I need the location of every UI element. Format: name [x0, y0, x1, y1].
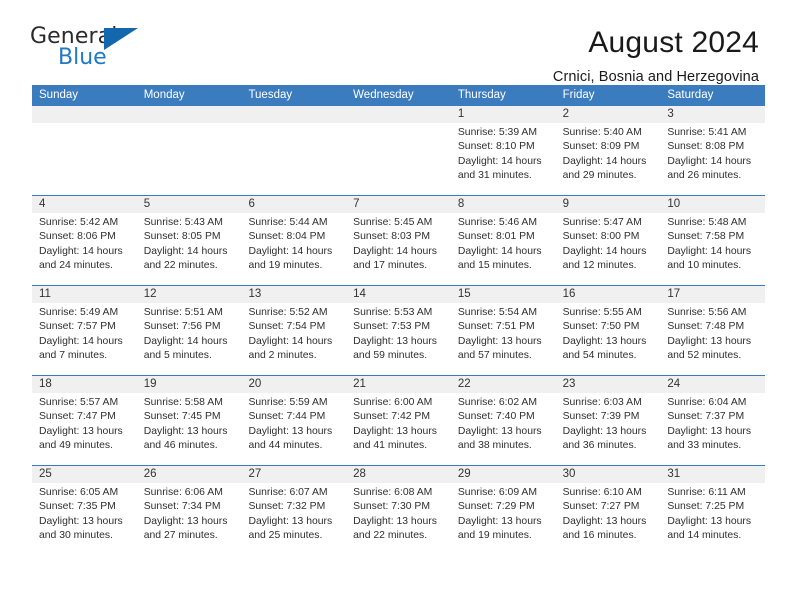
calendar-day-cell[interactable]: 18Sunrise: 5:57 AMSunset: 7:47 PMDayligh… — [32, 376, 137, 465]
daylight-line-2: and 22 minutes. — [144, 259, 236, 273]
daylight-line-1: Daylight: 14 hours — [458, 245, 550, 259]
daylight-line-2: and 24 minutes. — [39, 259, 131, 273]
calendar-week-row: 1Sunrise: 5:39 AMSunset: 8:10 PMDaylight… — [32, 105, 765, 195]
day-details: Sunrise: 6:02 AMSunset: 7:40 PMDaylight:… — [451, 393, 556, 454]
calendar-day-cell[interactable]: 13Sunrise: 5:52 AMSunset: 7:54 PMDayligh… — [241, 286, 346, 375]
day-number: 1 — [451, 106, 556, 123]
daylight-line-2: and 15 minutes. — [458, 259, 550, 273]
daylight-line-2: and 5 minutes. — [144, 349, 236, 363]
sunrise-time: Sunrise: 6:03 AM — [563, 396, 655, 410]
day-number: 11 — [32, 286, 137, 303]
sunset-time: Sunset: 8:04 PM — [248, 230, 340, 244]
sunrise-time: Sunrise: 6:06 AM — [144, 486, 236, 500]
sunset-time: Sunset: 8:09 PM — [563, 140, 655, 154]
daylight-line-1: Daylight: 14 hours — [458, 155, 550, 169]
daylight-line-2: and 54 minutes. — [563, 349, 655, 363]
sunrise-time: Sunrise: 6:09 AM — [458, 486, 550, 500]
sunset-time: Sunset: 7:53 PM — [353, 320, 445, 334]
day-details — [241, 123, 346, 126]
daylight-line-2: and 19 minutes. — [248, 259, 340, 273]
daylight-line-2: and 14 minutes. — [667, 529, 759, 543]
calendar-day-cell[interactable]: 26Sunrise: 6:06 AMSunset: 7:34 PMDayligh… — [137, 466, 242, 557]
sunset-time: Sunset: 7:27 PM — [563, 500, 655, 514]
daylight-line-1: Daylight: 13 hours — [144, 425, 236, 439]
calendar-day-cell-empty — [346, 106, 451, 195]
daylight-line-2: and 29 minutes. — [563, 169, 655, 183]
sunrise-time: Sunrise: 5:52 AM — [248, 306, 340, 320]
general-blue-logo[interactable]: General Blue — [30, 26, 160, 74]
sunrise-time: Sunrise: 5:44 AM — [248, 216, 340, 230]
calendar-day-cell[interactable]: 15Sunrise: 5:54 AMSunset: 7:51 PMDayligh… — [451, 286, 556, 375]
calendar-day-cell[interactable]: 16Sunrise: 5:55 AMSunset: 7:50 PMDayligh… — [556, 286, 661, 375]
sunset-time: Sunset: 7:44 PM — [248, 410, 340, 424]
day-number: 14 — [346, 286, 451, 303]
sunset-time: Sunset: 8:08 PM — [667, 140, 759, 154]
day-details: Sunrise: 5:58 AMSunset: 7:45 PMDaylight:… — [137, 393, 242, 454]
page-title: August 2024 — [553, 26, 759, 60]
day-number: 8 — [451, 196, 556, 213]
daylight-line-2: and 46 minutes. — [144, 439, 236, 453]
weekday-header-tuesday: Tuesday — [241, 85, 346, 105]
day-number: 2 — [556, 106, 661, 123]
weekday-header-saturday: Saturday — [660, 85, 765, 105]
day-number: 21 — [346, 376, 451, 393]
day-details: Sunrise: 5:48 AMSunset: 7:58 PMDaylight:… — [660, 213, 765, 274]
sunrise-time: Sunrise: 6:08 AM — [353, 486, 445, 500]
sunrise-time: Sunrise: 5:40 AM — [563, 126, 655, 140]
sunrise-time: Sunrise: 6:07 AM — [248, 486, 340, 500]
day-number: 25 — [32, 466, 137, 483]
day-number — [241, 106, 346, 123]
day-number: 5 — [137, 196, 242, 213]
calendar-day-cell-empty — [32, 106, 137, 195]
day-details: Sunrise: 5:52 AMSunset: 7:54 PMDaylight:… — [241, 303, 346, 364]
daylight-line-2: and 26 minutes. — [667, 169, 759, 183]
day-number: 4 — [32, 196, 137, 213]
calendar-day-cell[interactable]: 20Sunrise: 5:59 AMSunset: 7:44 PMDayligh… — [241, 376, 346, 465]
calendar-day-cell[interactable]: 6Sunrise: 5:44 AMSunset: 8:04 PMDaylight… — [241, 196, 346, 285]
day-number — [32, 106, 137, 123]
daylight-line-2: and 36 minutes. — [563, 439, 655, 453]
sunrise-time: Sunrise: 6:11 AM — [667, 486, 759, 500]
day-number: 23 — [556, 376, 661, 393]
daylight-line-1: Daylight: 13 hours — [667, 335, 759, 349]
sunrise-time: Sunrise: 5:45 AM — [353, 216, 445, 230]
calendar-week-row: 18Sunrise: 5:57 AMSunset: 7:47 PMDayligh… — [32, 375, 765, 465]
calendar-week-row: 25Sunrise: 6:05 AMSunset: 7:35 PMDayligh… — [32, 465, 765, 557]
sunset-time: Sunset: 7:58 PM — [667, 230, 759, 244]
sunrise-time: Sunrise: 6:02 AM — [458, 396, 550, 410]
daylight-line-1: Daylight: 14 hours — [667, 245, 759, 259]
calendar-day-cell[interactable]: 8Sunrise: 5:46 AMSunset: 8:01 PMDaylight… — [451, 196, 556, 285]
day-number: 6 — [241, 196, 346, 213]
day-number: 13 — [241, 286, 346, 303]
calendar-day-cell[interactable]: 31Sunrise: 6:11 AMSunset: 7:25 PMDayligh… — [660, 466, 765, 557]
calendar-page: General Blue August 2024 Crnici, Bosnia … — [0, 0, 792, 612]
day-details: Sunrise: 6:10 AMSunset: 7:27 PMDaylight:… — [556, 483, 661, 544]
sunrise-time: Sunrise: 6:00 AM — [353, 396, 445, 410]
daylight-line-2: and 19 minutes. — [458, 529, 550, 543]
day-details: Sunrise: 5:41 AMSunset: 8:08 PMDaylight:… — [660, 123, 765, 184]
day-details: Sunrise: 6:08 AMSunset: 7:30 PMDaylight:… — [346, 483, 451, 544]
sunset-time: Sunset: 7:45 PM — [144, 410, 236, 424]
daylight-line-2: and 30 minutes. — [39, 529, 131, 543]
day-details: Sunrise: 5:44 AMSunset: 8:04 PMDaylight:… — [241, 213, 346, 274]
page-subtitle: Crnici, Bosnia and Herzegovina — [553, 69, 759, 85]
sunset-time: Sunset: 7:34 PM — [144, 500, 236, 514]
daylight-line-2: and 38 minutes. — [458, 439, 550, 453]
calendar-day-cell[interactable]: 17Sunrise: 5:56 AMSunset: 7:48 PMDayligh… — [660, 286, 765, 375]
daylight-line-2: and 12 minutes. — [563, 259, 655, 273]
calendar-day-cell[interactable]: 27Sunrise: 6:07 AMSunset: 7:32 PMDayligh… — [241, 466, 346, 557]
daylight-line-2: and 27 minutes. — [144, 529, 236, 543]
sunset-time: Sunset: 7:29 PM — [458, 500, 550, 514]
sunrise-time: Sunrise: 5:41 AM — [667, 126, 759, 140]
sunrise-time: Sunrise: 5:57 AM — [39, 396, 131, 410]
sunset-time: Sunset: 7:42 PM — [353, 410, 445, 424]
calendar-grid: Sunday Monday Tuesday Wednesday Thursday… — [32, 85, 765, 557]
calendar-day-cell[interactable]: 1Sunrise: 5:39 AMSunset: 8:10 PMDaylight… — [451, 106, 556, 195]
day-details — [346, 123, 451, 126]
title-block: August 2024 Crnici, Bosnia and Herzegovi… — [553, 26, 759, 85]
weekday-header-wednesday: Wednesday — [346, 85, 451, 105]
day-details: Sunrise: 6:06 AMSunset: 7:34 PMDaylight:… — [137, 483, 242, 544]
day-details: Sunrise: 6:07 AMSunset: 7:32 PMDaylight:… — [241, 483, 346, 544]
weekday-header-sunday: Sunday — [32, 85, 137, 105]
daylight-line-1: Daylight: 14 hours — [248, 245, 340, 259]
sunrise-time: Sunrise: 5:51 AM — [144, 306, 236, 320]
sunset-time: Sunset: 8:03 PM — [353, 230, 445, 244]
daylight-line-1: Daylight: 14 hours — [248, 335, 340, 349]
sunset-time: Sunset: 7:54 PM — [248, 320, 340, 334]
calendar-day-cell[interactable]: 3Sunrise: 5:41 AMSunset: 8:08 PMDaylight… — [660, 106, 765, 195]
calendar-day-cell[interactable]: 7Sunrise: 5:45 AMSunset: 8:03 PMDaylight… — [346, 196, 451, 285]
calendar-day-cell[interactable]: 10Sunrise: 5:48 AMSunset: 7:58 PMDayligh… — [660, 196, 765, 285]
daylight-line-1: Daylight: 13 hours — [563, 515, 655, 529]
page-header: General Blue August 2024 Crnici, Bosnia … — [0, 0, 792, 76]
daylight-line-1: Daylight: 14 hours — [563, 245, 655, 259]
sunrise-time: Sunrise: 6:04 AM — [667, 396, 759, 410]
day-number: 24 — [660, 376, 765, 393]
daylight-line-1: Daylight: 13 hours — [458, 515, 550, 529]
weekday-header-row: Sunday Monday Tuesday Wednesday Thursday… — [32, 85, 765, 105]
day-number: 20 — [241, 376, 346, 393]
sunrise-time: Sunrise: 5:42 AM — [39, 216, 131, 230]
day-number: 31 — [660, 466, 765, 483]
sunrise-time: Sunrise: 5:49 AM — [39, 306, 131, 320]
calendar-weeks: 1Sunrise: 5:39 AMSunset: 8:10 PMDaylight… — [32, 105, 765, 557]
daylight-line-1: Daylight: 14 hours — [353, 245, 445, 259]
daylight-line-1: Daylight: 13 hours — [353, 425, 445, 439]
day-details: Sunrise: 5:40 AMSunset: 8:09 PMDaylight:… — [556, 123, 661, 184]
calendar-day-cell[interactable]: 11Sunrise: 5:49 AMSunset: 7:57 PMDayligh… — [32, 286, 137, 375]
daylight-line-1: Daylight: 14 hours — [39, 245, 131, 259]
daylight-line-2: and 16 minutes. — [563, 529, 655, 543]
day-number: 28 — [346, 466, 451, 483]
calendar-day-cell[interactable]: 21Sunrise: 6:00 AMSunset: 7:42 PMDayligh… — [346, 376, 451, 465]
calendar-week-row: 4Sunrise: 5:42 AMSunset: 8:06 PMDaylight… — [32, 195, 765, 285]
sunset-time: Sunset: 7:39 PM — [563, 410, 655, 424]
daylight-line-1: Daylight: 13 hours — [353, 515, 445, 529]
day-number: 29 — [451, 466, 556, 483]
sunset-time: Sunset: 7:40 PM — [458, 410, 550, 424]
weekday-header-monday: Monday — [137, 85, 242, 105]
daylight-line-1: Daylight: 13 hours — [563, 425, 655, 439]
day-number: 26 — [137, 466, 242, 483]
weekday-header-friday: Friday — [556, 85, 661, 105]
daylight-line-1: Daylight: 13 hours — [458, 425, 550, 439]
daylight-line-2: and 33 minutes. — [667, 439, 759, 453]
sunset-time: Sunset: 7:35 PM — [39, 500, 131, 514]
day-number: 16 — [556, 286, 661, 303]
calendar-day-cell[interactable]: 2Sunrise: 5:40 AMSunset: 8:09 PMDaylight… — [556, 106, 661, 195]
daylight-line-2: and 10 minutes. — [667, 259, 759, 273]
day-number: 19 — [137, 376, 242, 393]
day-details — [137, 123, 242, 126]
day-details: Sunrise: 6:03 AMSunset: 7:39 PMDaylight:… — [556, 393, 661, 454]
calendar-day-cell[interactable]: 5Sunrise: 5:43 AMSunset: 8:05 PMDaylight… — [137, 196, 242, 285]
sunset-time: Sunset: 7:30 PM — [353, 500, 445, 514]
sunset-time: Sunset: 7:50 PM — [563, 320, 655, 334]
sunset-time: Sunset: 7:25 PM — [667, 500, 759, 514]
day-details: Sunrise: 5:45 AMSunset: 8:03 PMDaylight:… — [346, 213, 451, 274]
day-details: Sunrise: 5:56 AMSunset: 7:48 PMDaylight:… — [660, 303, 765, 364]
day-number: 17 — [660, 286, 765, 303]
day-details: Sunrise: 5:47 AMSunset: 8:00 PMDaylight:… — [556, 213, 661, 274]
day-number: 27 — [241, 466, 346, 483]
sunrise-time: Sunrise: 5:39 AM — [458, 126, 550, 140]
calendar-day-cell[interactable]: 29Sunrise: 6:09 AMSunset: 7:29 PMDayligh… — [451, 466, 556, 557]
sunset-time: Sunset: 8:06 PM — [39, 230, 131, 244]
daylight-line-1: Daylight: 13 hours — [458, 335, 550, 349]
day-number: 10 — [660, 196, 765, 213]
daylight-line-2: and 2 minutes. — [248, 349, 340, 363]
day-details: Sunrise: 5:39 AMSunset: 8:10 PMDaylight:… — [451, 123, 556, 184]
day-details: Sunrise: 5:53 AMSunset: 7:53 PMDaylight:… — [346, 303, 451, 364]
daylight-line-2: and 41 minutes. — [353, 439, 445, 453]
daylight-line-2: and 44 minutes. — [248, 439, 340, 453]
day-number — [346, 106, 451, 123]
sunrise-time: Sunrise: 5:47 AM — [563, 216, 655, 230]
sunset-time: Sunset: 8:10 PM — [458, 140, 550, 154]
day-details: Sunrise: 5:42 AMSunset: 8:06 PMDaylight:… — [32, 213, 137, 274]
calendar-day-cell[interactable]: 28Sunrise: 6:08 AMSunset: 7:30 PMDayligh… — [346, 466, 451, 557]
calendar-week-row: 11Sunrise: 5:49 AMSunset: 7:57 PMDayligh… — [32, 285, 765, 375]
daylight-line-1: Daylight: 14 hours — [667, 155, 759, 169]
sunset-time: Sunset: 8:05 PM — [144, 230, 236, 244]
day-details: Sunrise: 6:04 AMSunset: 7:37 PMDaylight:… — [660, 393, 765, 454]
day-number: 18 — [32, 376, 137, 393]
day-details — [32, 123, 137, 126]
daylight-line-1: Daylight: 13 hours — [667, 425, 759, 439]
day-number: 30 — [556, 466, 661, 483]
sunrise-time: Sunrise: 5:46 AM — [458, 216, 550, 230]
daylight-line-1: Daylight: 13 hours — [248, 515, 340, 529]
day-number — [137, 106, 242, 123]
daylight-line-2: and 57 minutes. — [458, 349, 550, 363]
daylight-line-1: Daylight: 13 hours — [144, 515, 236, 529]
calendar-day-cell-empty — [137, 106, 242, 195]
weekday-header-thursday: Thursday — [451, 85, 556, 105]
sunrise-time: Sunrise: 5:56 AM — [667, 306, 759, 320]
sunset-time: Sunset: 7:47 PM — [39, 410, 131, 424]
sunset-time: Sunset: 8:00 PM — [563, 230, 655, 244]
daylight-line-1: Daylight: 13 hours — [248, 425, 340, 439]
daylight-line-1: Daylight: 13 hours — [39, 425, 131, 439]
sunset-time: Sunset: 7:56 PM — [144, 320, 236, 334]
sunrise-time: Sunrise: 5:48 AM — [667, 216, 759, 230]
calendar-day-cell[interactable]: 23Sunrise: 6:03 AMSunset: 7:39 PMDayligh… — [556, 376, 661, 465]
logo-triangle-icon — [104, 28, 138, 50]
daylight-line-1: Daylight: 13 hours — [563, 335, 655, 349]
calendar-day-cell[interactable]: 24Sunrise: 6:04 AMSunset: 7:37 PMDayligh… — [660, 376, 765, 465]
sunrise-time: Sunrise: 5:53 AM — [353, 306, 445, 320]
day-number: 12 — [137, 286, 242, 303]
daylight-line-2: and 25 minutes. — [248, 529, 340, 543]
day-details: Sunrise: 5:46 AMSunset: 8:01 PMDaylight:… — [451, 213, 556, 274]
day-details: Sunrise: 6:09 AMSunset: 7:29 PMDaylight:… — [451, 483, 556, 544]
sunset-time: Sunset: 7:48 PM — [667, 320, 759, 334]
day-details: Sunrise: 5:43 AMSunset: 8:05 PMDaylight:… — [137, 213, 242, 274]
sunrise-time: Sunrise: 5:59 AM — [248, 396, 340, 410]
daylight-line-1: Daylight: 13 hours — [353, 335, 445, 349]
day-details: Sunrise: 5:59 AMSunset: 7:44 PMDaylight:… — [241, 393, 346, 454]
daylight-line-2: and 31 minutes. — [458, 169, 550, 183]
daylight-line-2: and 49 minutes. — [39, 439, 131, 453]
daylight-line-1: Daylight: 14 hours — [144, 245, 236, 259]
day-details: Sunrise: 5:55 AMSunset: 7:50 PMDaylight:… — [556, 303, 661, 364]
day-number: 7 — [346, 196, 451, 213]
logo-text-blue: Blue — [58, 47, 107, 69]
sunrise-time: Sunrise: 5:55 AM — [563, 306, 655, 320]
daylight-line-2: and 52 minutes. — [667, 349, 759, 363]
calendar-day-cell[interactable]: 12Sunrise: 5:51 AMSunset: 7:56 PMDayligh… — [137, 286, 242, 375]
sunrise-time: Sunrise: 5:58 AM — [144, 396, 236, 410]
calendar-day-cell[interactable]: 4Sunrise: 5:42 AMSunset: 8:06 PMDaylight… — [32, 196, 137, 285]
day-number: 15 — [451, 286, 556, 303]
calendar-day-cell[interactable]: 14Sunrise: 5:53 AMSunset: 7:53 PMDayligh… — [346, 286, 451, 375]
sunrise-time: Sunrise: 6:10 AM — [563, 486, 655, 500]
daylight-line-2: and 22 minutes. — [353, 529, 445, 543]
day-details: Sunrise: 6:00 AMSunset: 7:42 PMDaylight:… — [346, 393, 451, 454]
sunset-time: Sunset: 7:37 PM — [667, 410, 759, 424]
day-number: 3 — [660, 106, 765, 123]
day-details: Sunrise: 5:49 AMSunset: 7:57 PMDaylight:… — [32, 303, 137, 364]
calendar-day-cell[interactable]: 25Sunrise: 6:05 AMSunset: 7:35 PMDayligh… — [32, 466, 137, 557]
day-number: 22 — [451, 376, 556, 393]
sunset-time: Sunset: 8:01 PM — [458, 230, 550, 244]
daylight-line-2: and 59 minutes. — [353, 349, 445, 363]
day-number: 9 — [556, 196, 661, 213]
sunset-time: Sunset: 7:32 PM — [248, 500, 340, 514]
day-details: Sunrise: 6:11 AMSunset: 7:25 PMDaylight:… — [660, 483, 765, 544]
calendar-day-cell[interactable]: 30Sunrise: 6:10 AMSunset: 7:27 PMDayligh… — [556, 466, 661, 557]
day-details: Sunrise: 5:57 AMSunset: 7:47 PMDaylight:… — [32, 393, 137, 454]
daylight-line-1: Daylight: 13 hours — [39, 515, 131, 529]
sunset-time: Sunset: 7:57 PM — [39, 320, 131, 334]
sunset-time: Sunset: 7:51 PM — [458, 320, 550, 334]
day-details: Sunrise: 5:51 AMSunset: 7:56 PMDaylight:… — [137, 303, 242, 364]
daylight-line-1: Daylight: 14 hours — [39, 335, 131, 349]
daylight-line-1: Daylight: 13 hours — [667, 515, 759, 529]
sunrise-time: Sunrise: 6:05 AM — [39, 486, 131, 500]
calendar-day-cell[interactable]: 19Sunrise: 5:58 AMSunset: 7:45 PMDayligh… — [137, 376, 242, 465]
calendar-day-cell[interactable]: 9Sunrise: 5:47 AMSunset: 8:00 PMDaylight… — [556, 196, 661, 285]
daylight-line-2: and 7 minutes. — [39, 349, 131, 363]
day-details: Sunrise: 5:54 AMSunset: 7:51 PMDaylight:… — [451, 303, 556, 364]
calendar-day-cell-empty — [241, 106, 346, 195]
sunrise-time: Sunrise: 5:43 AM — [144, 216, 236, 230]
calendar-day-cell[interactable]: 22Sunrise: 6:02 AMSunset: 7:40 PMDayligh… — [451, 376, 556, 465]
daylight-line-1: Daylight: 14 hours — [563, 155, 655, 169]
daylight-line-1: Daylight: 14 hours — [144, 335, 236, 349]
day-details: Sunrise: 6:05 AMSunset: 7:35 PMDaylight:… — [32, 483, 137, 544]
daylight-line-2: and 17 minutes. — [353, 259, 445, 273]
sunrise-time: Sunrise: 5:54 AM — [458, 306, 550, 320]
